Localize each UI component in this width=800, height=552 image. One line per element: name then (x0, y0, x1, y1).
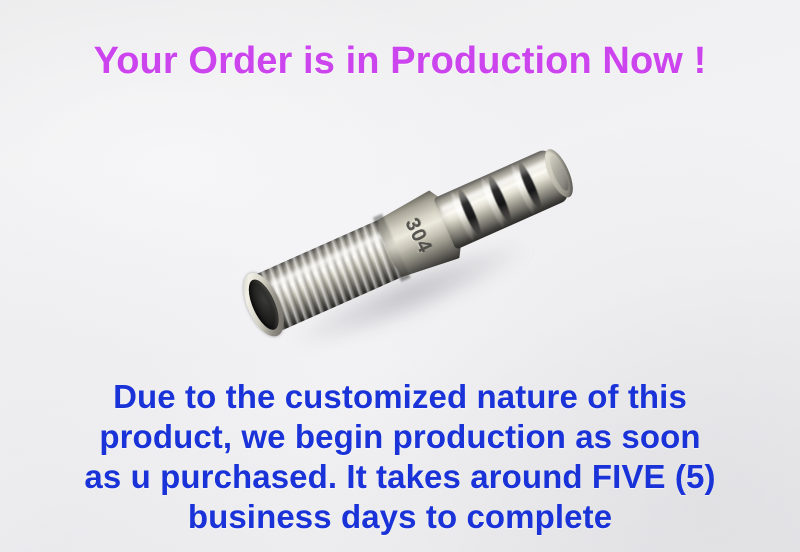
product-image: 304 (215, 145, 605, 360)
notice-line: as u purchased. It takes around FIVE (5) (0, 457, 800, 497)
notice-line: product, we begin production as soon (0, 417, 800, 457)
production-notice-text: Due to the customized nature of this pro… (0, 377, 800, 537)
notice-canvas: Your Order is in Production Now ! 304 (0, 0, 800, 552)
notice-line: Due to the customized nature of this (0, 377, 800, 417)
page-title: Your Order is in Production Now ! (0, 40, 800, 83)
notice-line: business days to complete (0, 497, 800, 537)
